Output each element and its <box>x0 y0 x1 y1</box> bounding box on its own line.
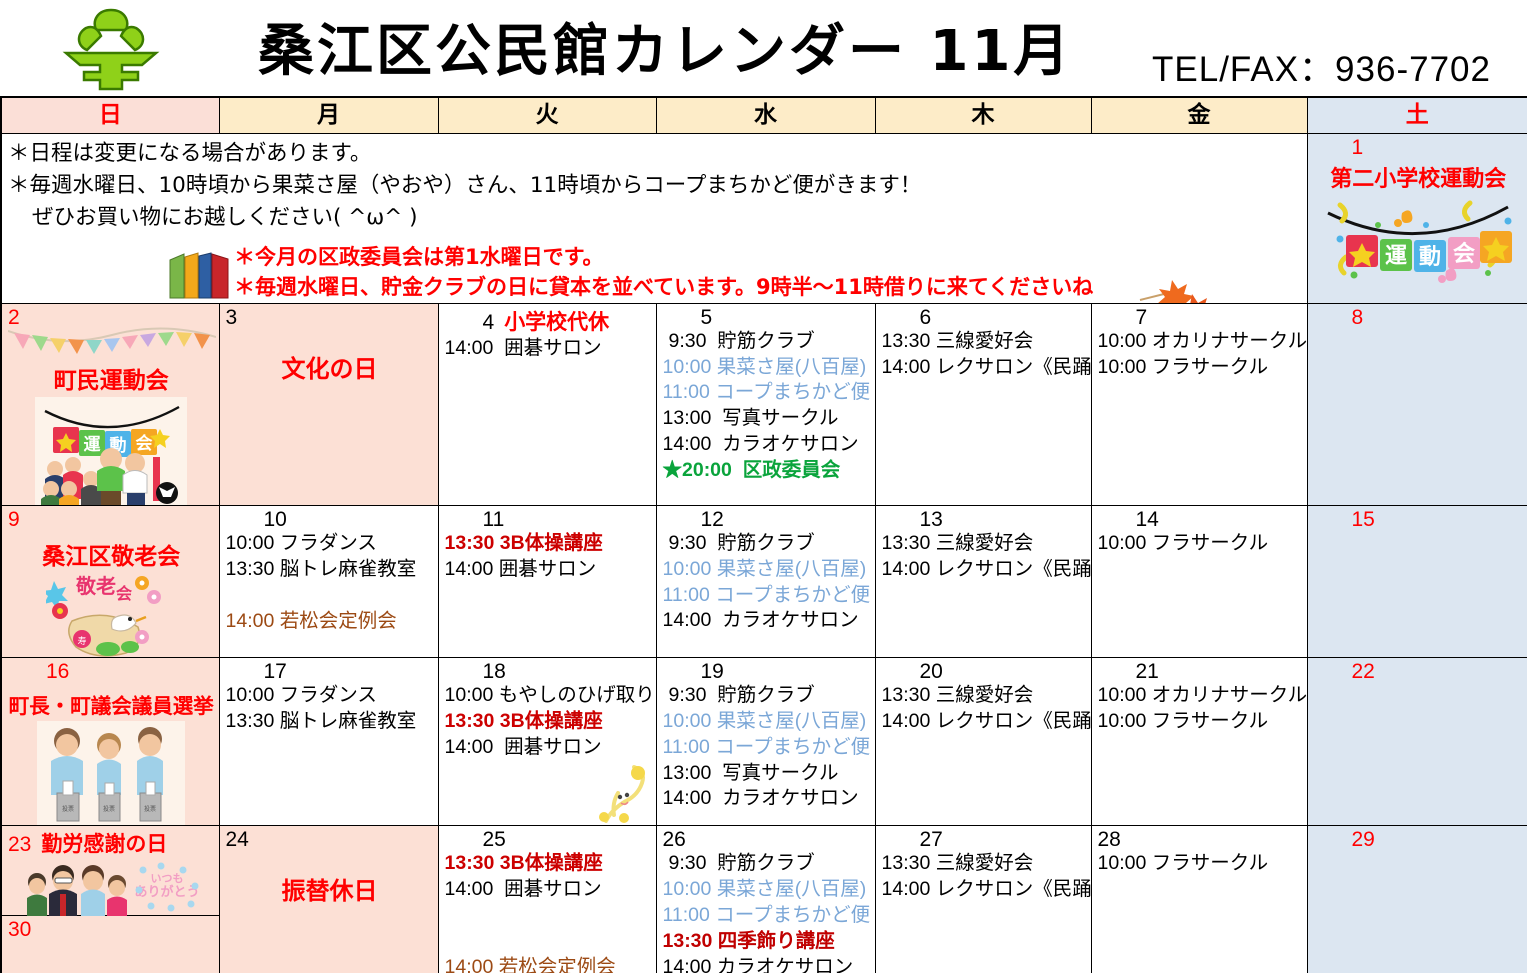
day-number: 1 <box>1314 136 1364 159</box>
svg-text:ありがとう: ありがとう <box>135 884 200 900</box>
event-item: 14:00 若松会定例会 <box>445 955 652 973</box>
dow-header-sunday: 日 <box>1 97 219 133</box>
event-item: 11:00 コープまちかど便 <box>663 583 871 609</box>
event-item: 13:00 写真サークル <box>663 406 871 432</box>
week-row-3: 16 町長・町議会議員選挙 投票 <box>1 657 1527 825</box>
day-number: 18 <box>445 660 506 683</box>
day-of-week-header-row: 日 月 火 水 木 金 土 <box>1 97 1527 133</box>
holiday-label: 勤労感謝の日 <box>41 828 167 858</box>
day-number: 23 <box>8 833 31 856</box>
event-item: 13:30 三線愛好会 <box>882 683 1087 709</box>
event-item: 10:00 フラサークル <box>1098 851 1303 877</box>
event-spacer <box>226 583 434 609</box>
day-number: 17 <box>226 660 287 683</box>
dow-header-tuesday: 火 <box>438 97 656 133</box>
svg-text:会: 会 <box>116 584 132 603</box>
day-cell-11[interactable]: 11 13:30 3B体操講座 14:00 囲碁サロン <box>438 505 656 657</box>
event-item: 13:00 写真サークル <box>663 761 871 787</box>
event-item: 14:00 カラオケサロン <box>663 608 871 634</box>
holiday-label: 文化の日 <box>226 349 434 384</box>
party-bunting-icon <box>8 325 216 355</box>
event-item: 13:30 3B体操講座 <box>445 851 652 877</box>
dow-header-friday: 金 <box>1091 97 1307 133</box>
day-event-title: 第二小学校運動会 <box>1314 161 1524 193</box>
event-item: 9:30 貯筋クラブ <box>663 851 871 877</box>
svg-text:会: 会 <box>1453 241 1475 267</box>
day-header: 23 勤労感謝の日 <box>8 828 215 858</box>
day-cell-10[interactable]: 10 10:00 フラダンス 13:30 脳トレ麻雀教室 14:00 若松会定例… <box>219 505 438 657</box>
day-number: 11 <box>445 508 505 531</box>
day-cell-5[interactable]: 5 9:30 貯筋クラブ 10:00 果菜さ屋(八百屋) 11:00 コープまち… <box>656 303 875 505</box>
day-number: 29 <box>1314 828 1375 851</box>
event-item: 13:30 三線愛好会 <box>882 851 1087 877</box>
day-number: 4 <box>445 311 495 334</box>
bean-sprout-icon <box>594 761 650 823</box>
svg-text:運: 運 <box>84 435 101 455</box>
day-note: 小学校代休 <box>504 306 609 336</box>
autumn-decoration-group <box>1130 272 1307 304</box>
day-cell-13[interactable]: 13 13:30 三線愛好会 14:00 レクサロン《民踊》 <box>875 505 1091 657</box>
event-item: 14:00 レクサロン《民踊》 <box>882 709 1087 735</box>
dow-header-wednesday: 水 <box>656 97 875 133</box>
event-item: 14:00 レクサロン《民踊》 <box>882 557 1087 583</box>
day-cell-7[interactable]: 7 10:00 オカリナサークル 10:00 フラサークル <box>1091 303 1307 505</box>
day-number: 8 <box>1314 306 1364 329</box>
page-header: 桑江区公民館カレンダー 11月 TEL/FAX：936-7702 <box>0 0 1527 96</box>
day-cell-2[interactable]: 2 町民運動会 <box>1 303 219 505</box>
svg-text:投票: 投票 <box>62 805 74 813</box>
day-cell-22[interactable]: 22 <box>1307 657 1527 825</box>
event-item: 13:30 3B体操講座 <box>445 709 652 735</box>
event-item: 9:30 貯筋クラブ <box>663 683 871 709</box>
day-event-title: 桑江区敬老会 <box>8 537 215 571</box>
day-cell-18[interactable]: 18 10:00 もやしのひげ取り 13:30 3B体操講座 14:00 囲碁サ… <box>438 657 656 825</box>
event-item: 13:30 三線愛好会 <box>882 531 1087 557</box>
day-cell-3[interactable]: 3 文化の日 <box>219 303 438 505</box>
dow-header-monday: 月 <box>219 97 438 133</box>
day-number: 22 <box>1314 660 1375 683</box>
svg-text:いつも: いつも <box>151 872 184 885</box>
week-row-4: 23 勤労感謝の日 <box>1 825 1527 973</box>
day-cell-15[interactable]: 15 <box>1307 505 1527 657</box>
event-item: 10:00 果菜さ屋(八百屋) <box>663 877 871 903</box>
telephone-fax-number: TEL/FAX：936-7702 <box>1152 41 1491 92</box>
svg-text:寿: 寿 <box>78 635 87 647</box>
day-cell-20[interactable]: 20 13:30 三線愛好会 14:00 レクサロン《民踊》 <box>875 657 1091 825</box>
green-mulberry-logo-icon <box>46 6 176 92</box>
day-cell-4[interactable]: 4 小学校代休 14:00 囲碁サロン <box>438 303 656 505</box>
day-number: 12 <box>663 508 724 531</box>
event-item: 14:00 レクサロン《民踊》 <box>882 355 1087 381</box>
event-item: 10:00 オカリナサークル <box>1098 683 1303 709</box>
event-item: 13:30 三線愛好会 <box>882 329 1087 355</box>
calendar-table: 日 月 火 水 木 金 土 ＊日程は変更になる場合があります。 ＊毎週水曜日、1… <box>0 96 1527 973</box>
week-row-1: 2 町民運動会 <box>1 303 1527 505</box>
day-event-title: 町長・町議会議員選挙 <box>8 689 215 719</box>
event-spacer <box>445 929 652 955</box>
day-cell-27[interactable]: 27 13:30 三線愛好会 14:00 レクサロン《民踊》 <box>875 825 1091 973</box>
day-cell-19[interactable]: 19 9:30 貯筋クラブ 10:00 果菜さ屋(八百屋) 11:00 コープま… <box>656 657 875 825</box>
day-number: 30 <box>8 918 31 941</box>
day-event-title: 町民運動会 <box>8 361 215 395</box>
event-item: 10:00 もやしのひげ取り <box>445 683 652 709</box>
event-item: 10:00 果菜さ屋(八百屋) <box>663 709 871 735</box>
event-item: 10:00 果菜さ屋(八百屋) <box>663 355 871 381</box>
red-notice-line-2: ＊毎週水曜日、貯金クラブの日に貸本を並べています。9時半～11時借りに来てくださ… <box>234 272 1093 302</box>
day-number: 9 <box>8 508 20 531</box>
dow-header-saturday: 土 <box>1307 97 1527 133</box>
event-item: 11:00 コープまちかど便 <box>663 903 871 929</box>
stack-of-books-icon <box>168 246 232 300</box>
day-header: 4 小学校代休 <box>445 306 652 336</box>
day-number: 3 <box>226 306 238 329</box>
event-item: ★20:00 区政委員会 <box>663 458 871 484</box>
event-item: 13:30 3B体操講座 <box>445 531 652 557</box>
day-cell-14[interactable]: 14 10:00 フラサークル <box>1091 505 1307 657</box>
event-item: 14:00 カラオケサロン <box>663 432 871 458</box>
undoukai-crowd-icon: 運動会 <box>35 397 187 505</box>
day-number: 16 <box>8 660 69 683</box>
note-line-1: ＊日程は変更になる場合があります。 <box>8 138 1307 170</box>
day-number: 19 <box>663 660 724 683</box>
day-number: 26 <box>663 828 686 851</box>
event-item: 10:00 フラサークル <box>1098 355 1303 381</box>
day-cell-25[interactable]: 25 13:30 3B体操講座 14:00 囲碁サロン 14:00 若松会定例会 <box>438 825 656 973</box>
event-item: 10:00 フラサークル <box>1098 531 1303 557</box>
day-number: 25 <box>445 828 506 851</box>
day-cell-12[interactable]: 12 9:30 貯筋クラブ 10:00 果菜さ屋(八百屋) 11:00 コープま… <box>656 505 875 657</box>
event-item: 14:00 レクサロン《民踊》 <box>882 877 1087 903</box>
day-number: 10 <box>226 508 287 531</box>
note-line-3: ぜひお買い物にお越しください( ^ω^ ) <box>8 202 1307 234</box>
event-item: 10:00 オカリナサークル <box>1098 329 1303 355</box>
day-number: 24 <box>226 828 249 851</box>
day-number: 7 <box>1098 306 1148 329</box>
keirokai-crane-icon: 敬老 会 寿 <box>46 571 176 657</box>
svg-text:敬老: 敬老 <box>75 574 116 598</box>
day-number: 27 <box>882 828 943 851</box>
day-cell-24[interactable]: 24 振替休日 <box>219 825 438 973</box>
holiday-label: 振替休日 <box>226 871 434 906</box>
day-number: 28 <box>1098 828 1121 851</box>
svg-text:動: 動 <box>1419 245 1441 270</box>
day-number: 15 <box>1314 508 1375 531</box>
event-item: 13:30 脳トレ麻雀教室 <box>226 709 434 735</box>
day-cell-23[interactable]: 23 勤労感謝の日 <box>2 826 219 916</box>
undoukai-banner-icon: 運動会 <box>1318 195 1518 283</box>
event-item: 13:30 脳トレ麻雀教室 <box>226 557 434 583</box>
day-cell-23-and-30[interactable]: 23 勤労感謝の日 <box>1 825 219 973</box>
calendar-page: 桑江区公民館カレンダー 11月 TEL/FAX：936-7702 日 月 火 水… <box>0 0 1527 973</box>
event-item: 11:00 コープまちかど便 <box>663 380 871 406</box>
monthly-notes-cell: ＊日程は変更になる場合があります。 ＊毎週水曜日、10時頃から果菜さ屋（やおや）… <box>1 133 1307 303</box>
page-title: 桑江区公民館カレンダー 11月 <box>258 6 1072 87</box>
day-number: 14 <box>1098 508 1159 531</box>
svg-text:投票: 投票 <box>144 805 156 813</box>
notes-row: ＊日程は変更になる場合があります。 ＊毎週水曜日、10時頃から果菜さ屋（やおや）… <box>1 133 1527 303</box>
day-cell-17[interactable]: 17 10:00 フラダンス 13:30 脳トレ麻雀教室 <box>219 657 438 825</box>
thank-you-family-icon: いつも ありがとう <box>11 858 211 918</box>
event-item: 10:00 フラダンス <box>226 683 434 709</box>
event-item: 14:00 囲碁サロン <box>445 557 652 583</box>
day-cell-26[interactable]: 26 9:30 貯筋クラブ 10:00 果菜さ屋(八百屋) 11:00 コープま… <box>656 825 875 973</box>
dow-header-thursday: 木 <box>875 97 1091 133</box>
day-cell-8[interactable]: 8 <box>1307 303 1527 505</box>
event-spacer <box>445 903 652 929</box>
event-item: 14:00 囲碁サロン <box>445 336 652 362</box>
day-cell-30[interactable]: 30 <box>2 916 219 973</box>
event-item: 10:00 フラサークル <box>1098 709 1303 735</box>
svg-text:運: 運 <box>1385 244 1407 269</box>
event-item: 9:30 貯筋クラブ <box>663 531 871 557</box>
day-cell-29[interactable]: 29 <box>1307 825 1527 973</box>
svg-text:投票: 投票 <box>103 805 115 813</box>
day-number: 5 <box>663 306 713 329</box>
red-notice-block: ＊今月の区政委員会は第1水曜日です。 ＊毎週水曜日、貯金クラブの日に貸本を並べて… <box>234 242 1093 303</box>
svg-text:会: 会 <box>136 433 153 454</box>
day-cell-9[interactable]: 9 桑江区敬老会 敬老 会 寿 <box>1 505 219 657</box>
day-cell-6[interactable]: 6 13:30 三線愛好会 14:00 レクサロン《民踊》 <box>875 303 1091 505</box>
event-item: 14:00 カラオケサロン <box>663 786 871 812</box>
day-cell-1[interactable]: 1 第二小学校運動会 <box>1307 133 1527 303</box>
day-number: 20 <box>882 660 943 683</box>
day-number: 13 <box>882 508 943 531</box>
event-item: 14:00 囲碁サロン <box>445 877 652 903</box>
note-line-2: ＊毎週水曜日、10時頃から果菜さ屋（やおや）さん、11時頃からコープまちかど便が… <box>8 170 1307 202</box>
week-row-2: 9 桑江区敬老会 敬老 会 寿 <box>1 505 1527 657</box>
day-cell-16[interactable]: 16 町長・町議会議員選挙 投票 <box>1 657 219 825</box>
event-item: 10:00 フラダンス <box>226 531 434 557</box>
red-notice-line-1: ＊今月の区政委員会は第1水曜日です。 <box>234 242 1093 272</box>
event-item: 11:00 コープまちかど便 <box>663 735 871 761</box>
voting-people-icon: 投票 投票 <box>37 721 185 825</box>
event-item: 13:30 四季飾り講座 <box>663 929 871 955</box>
event-item: 14:00 若松会定例会 <box>226 609 434 635</box>
event-item: 9:30 貯筋クラブ <box>663 329 871 355</box>
event-item: 10:00 果菜さ屋(八百屋) <box>663 557 871 583</box>
day-cell-21[interactable]: 21 10:00 オカリナサークル 10:00 フラサークル <box>1091 657 1307 825</box>
day-number: 6 <box>882 306 932 329</box>
day-cell-28[interactable]: 28 10:00 フラサークル <box>1091 825 1307 973</box>
day-number: 21 <box>1098 660 1159 683</box>
event-item: 14:00 カラオケサロン <box>663 955 871 973</box>
event-item: 14:00 囲碁サロン <box>445 735 652 761</box>
